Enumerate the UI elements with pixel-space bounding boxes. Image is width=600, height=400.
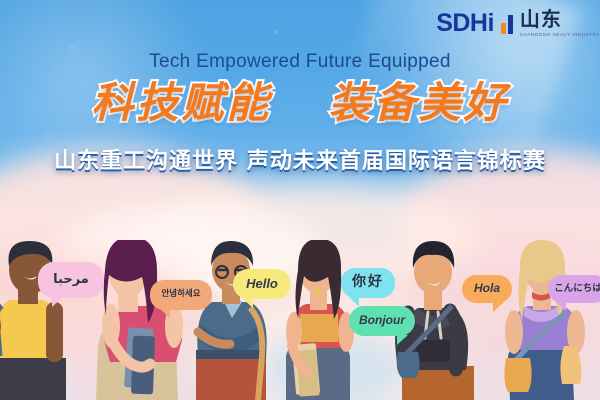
speech-bubble-korean-text: 안녕하세요 [161, 290, 200, 299]
person-woman-blonde [504, 240, 585, 400]
headline-chinese-right: 装备美好 [329, 78, 509, 127]
logo-chinese-block: 山东 SHANDONG HEAVY INDUSTRY [520, 9, 600, 37]
speech-bubble-japanese[interactable]: こんにちは [548, 275, 600, 303]
speech-bubble-spanish-text: Hola [474, 282, 500, 295]
headline-block: Tech Empowered Future Equipped 科技赋能 装备美好… [0, 52, 600, 175]
speech-bubble-spanish[interactable]: Hola [462, 275, 512, 303]
bubble-tail-icon [556, 302, 566, 311]
headline-chinese: 科技赋能 装备美好 [0, 81, 600, 125]
speech-bubble-korean[interactable]: 안녕하세요 [150, 280, 212, 310]
logo-chinese-name: 山东 [520, 9, 600, 29]
speech-bubble-french-text: Bonjour [359, 314, 405, 327]
speech-bubble-japanese-text: こんにちは [554, 284, 600, 294]
speech-bubble-french[interactable]: Bonjour [349, 306, 415, 336]
bubble-tail-icon [52, 297, 63, 307]
speech-bubble-arabic[interactable]: مرحبا [38, 262, 104, 298]
poster-canvas: SDHi 山东 SHANDONG HEAVY INDUSTRY Tech Emp… [0, 0, 600, 400]
logo-chinese-subtext: SHANDONG HEAVY INDUSTRY [520, 32, 600, 37]
person-man-glasses [196, 241, 267, 400]
bubble-tail-icon [242, 298, 253, 308]
logo-bars-icon [501, 12, 513, 34]
bubble-tail-icon [160, 309, 170, 318]
bubble-tail-icon [493, 302, 504, 312]
speech-bubble-english-text: Hello [246, 277, 278, 291]
speech-bubble-chinese-text: 你好 [352, 275, 384, 290]
person-woman-dark-hair [286, 240, 354, 400]
bubble-tail-icon [349, 297, 359, 307]
subtitle-chinese: 山东重工沟通世界 声动未来首届国际语言锦标赛 [0, 143, 600, 175]
headline-chinese-left: 科技赋能 [91, 78, 271, 127]
speech-bubble-chinese[interactable]: 你好 [341, 268, 395, 298]
brand-logo[interactable]: SDHi 山东 SHANDONG HEAVY INDUSTRY [436, 8, 600, 38]
speech-bubble-arabic-text: مرحبا [53, 273, 89, 287]
speech-bubble-english[interactable]: Hello [233, 269, 291, 299]
bubble-tail-icon [397, 335, 408, 345]
logo-wordmark: SDHi [436, 11, 494, 36]
tagline-english: Tech Empowered Future Equipped [0, 52, 600, 73]
person-woman-purple-hair [96, 240, 183, 400]
